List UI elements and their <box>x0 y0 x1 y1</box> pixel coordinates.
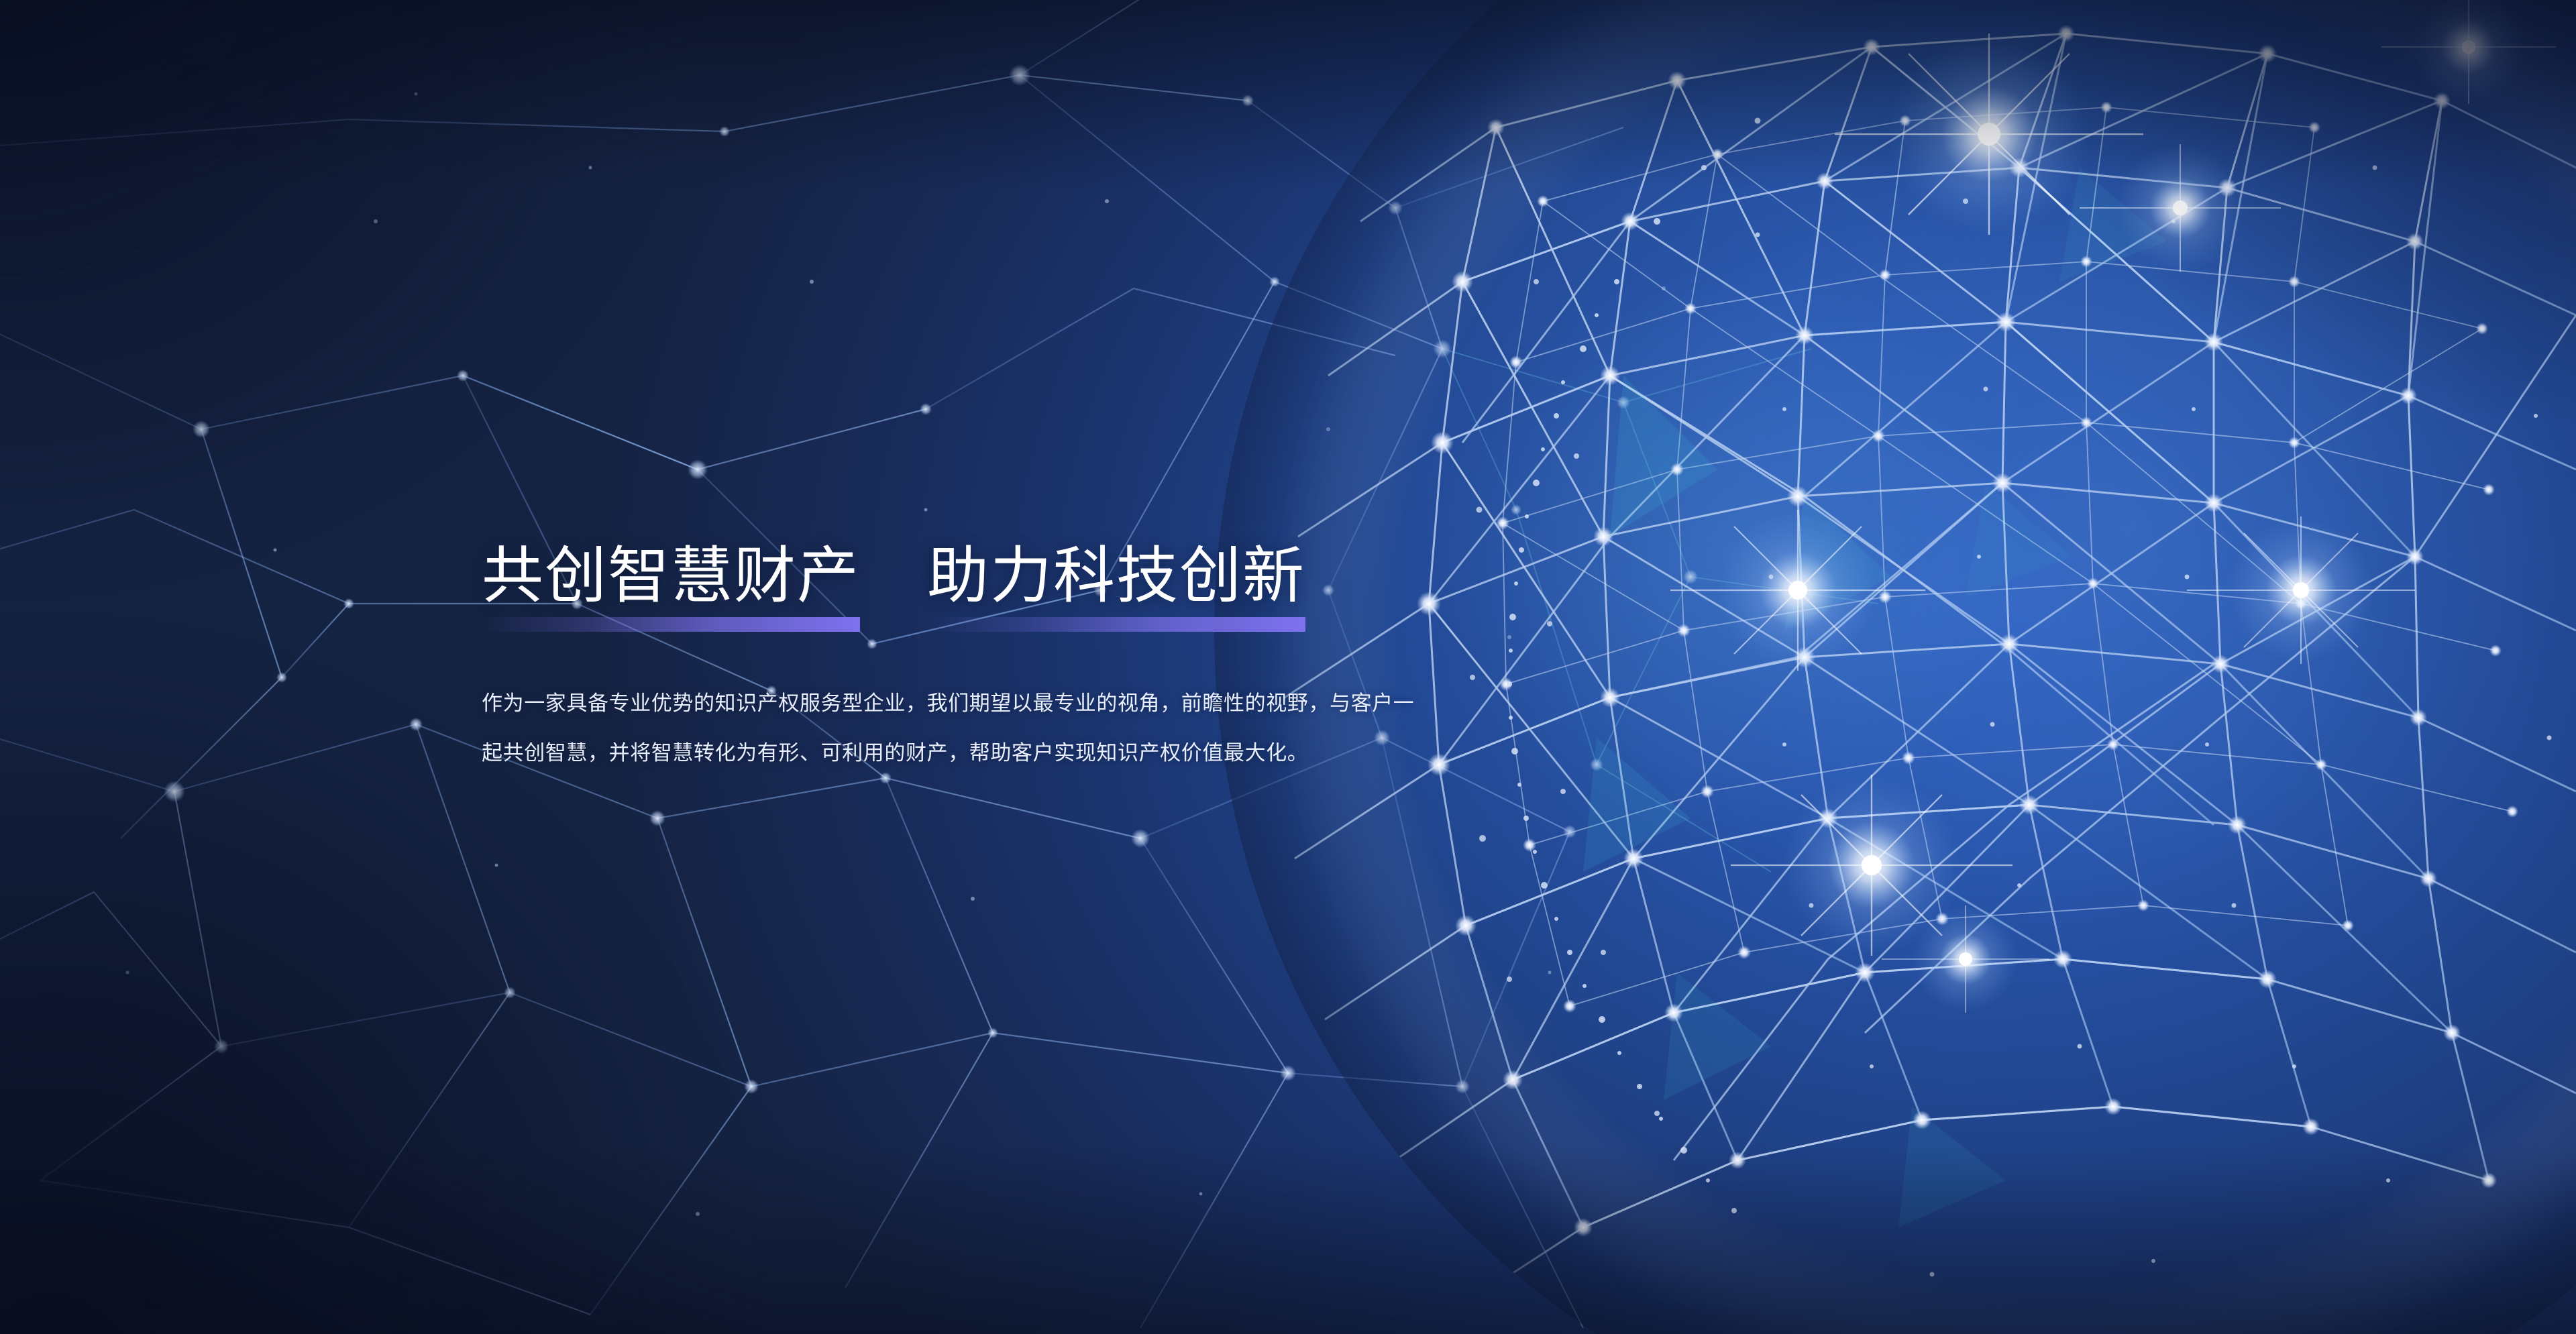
headline-underline-2 <box>927 617 1305 632</box>
headline-underline-1 <box>482 617 860 632</box>
headline-segment-1-text: 共创智慧财产 <box>482 542 860 610</box>
headline-segment-2: 助力科技创新 <box>927 545 1305 609</box>
hero-banner: 共创智慧财产 助力科技创新 作为一家具备专业优势的知识产权服务型企业，我们期望以… <box>0 0 2576 1334</box>
headline-segment-2-text: 助力科技创新 <box>927 542 1305 610</box>
page-title: 共创智慧财产 助力科技创新 <box>482 545 1474 609</box>
headline-segment-1: 共创智慧财产 <box>482 545 860 609</box>
hero-text-block: 共创智慧财产 助力科技创新 作为一家具备专业优势的知识产权服务型企业，我们期望以… <box>482 545 1474 799</box>
hero-paragraph: 作为一家具备专业优势的知识产权服务型企业，我们期望以最专业的视角，前瞻性的视野，… <box>482 679 1434 778</box>
